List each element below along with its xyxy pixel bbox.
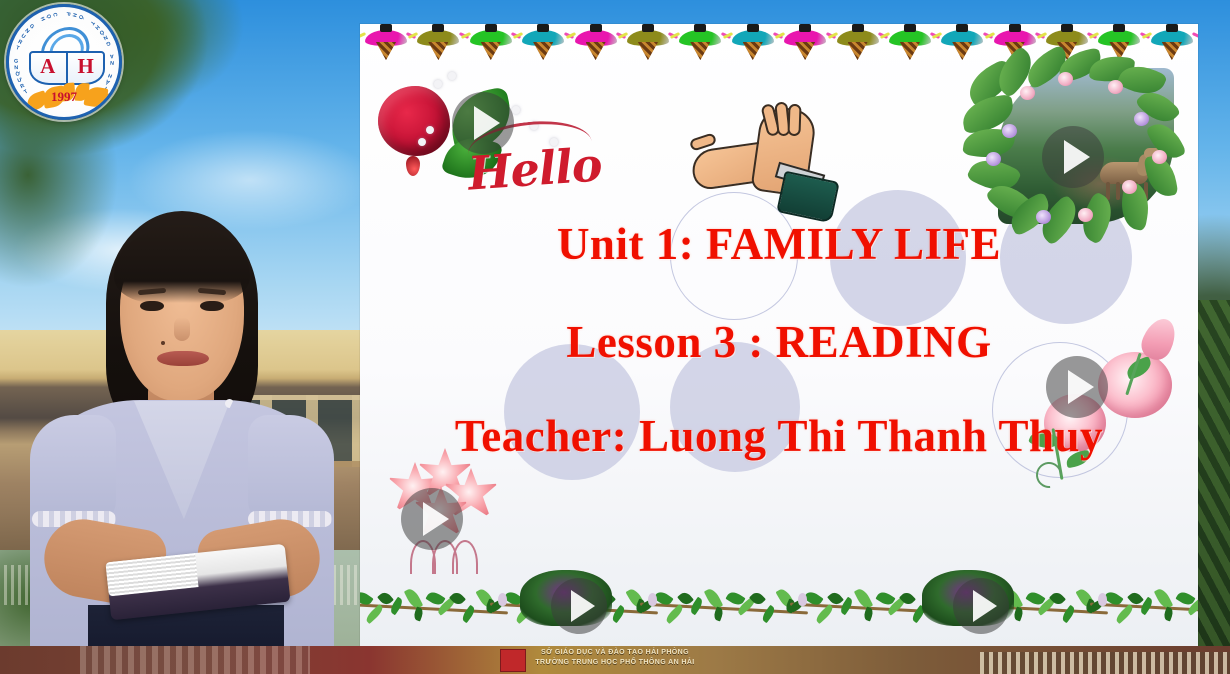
- icecream-topper: [747, 24, 759, 32]
- babys-breath-3: [426, 126, 434, 134]
- teacher-eye-left: [140, 301, 164, 311]
- school-banner-strip: SỞ GIÁO DỤC VÀ ĐÀO TẠO HẢI PHÒNG TRƯỜNG …: [0, 646, 1230, 674]
- icecream-cone: [848, 42, 868, 60]
- wreath-flower-5: [1108, 80, 1123, 94]
- icecream-topper: [1061, 24, 1073, 32]
- video-lecture-stage: TRƯỜNG TRUNG HỌC PHỔ THÔNG AN HẢI A H 19…: [0, 0, 1230, 674]
- logo-ring-char: T: [15, 45, 20, 52]
- icecream-cone-icon: [465, 24, 517, 60]
- play-button-vine-left[interactable]: [551, 578, 607, 634]
- babys-breath-2: [448, 72, 456, 80]
- icecream-topper: [485, 24, 497, 32]
- logo-ring-char: Ờ: [15, 71, 21, 78]
- vine-bud: [1098, 593, 1107, 606]
- icecream-topper: [1009, 24, 1021, 32]
- logo-ring-char: [33, 19, 39, 23]
- icecream-cone-icon: [779, 24, 831, 60]
- wreath-flower-1: [1020, 86, 1035, 100]
- icecream-cone-icon: [936, 24, 988, 60]
- logo-ring-char: G: [14, 58, 19, 64]
- wreath-flower-4: [986, 152, 1001, 166]
- icecream-cone: [481, 42, 501, 60]
- babys-breath-7: [418, 138, 426, 146]
- icecream-topper: [537, 24, 549, 32]
- icecream-cone-icon: [570, 24, 622, 60]
- icecream-cone-icon: [622, 24, 674, 60]
- icecream-cone-icon: [1093, 24, 1145, 60]
- teacher-mole: [161, 341, 165, 345]
- wreath-flower-6: [1134, 112, 1149, 126]
- clapping-hands-clipart: [690, 102, 850, 214]
- icecream-cone-icon: [884, 24, 936, 60]
- red-rose-icon: [378, 86, 450, 156]
- icecream-topper: [432, 24, 444, 32]
- green-sleeve: [776, 171, 840, 224]
- wreath-flower-7: [1122, 180, 1137, 194]
- icecream-topper: [904, 24, 916, 32]
- babys-breath-1: [434, 80, 442, 88]
- teacher-mouth: [157, 351, 209, 366]
- icecream-cone-icon: [412, 24, 464, 60]
- play-button-hello[interactable]: [452, 92, 514, 154]
- play-button-vine-right[interactable]: [953, 578, 1009, 634]
- icecream-spark: [1192, 32, 1198, 39]
- vine-leaf: [610, 605, 627, 623]
- icecream-topper: [694, 24, 706, 32]
- logo-founding-year: 1997: [9, 89, 119, 105]
- icecream-cone: [900, 42, 920, 60]
- icecream-cone: [743, 42, 763, 60]
- play-triangle-icon: [423, 502, 449, 536]
- play-triangle-icon: [1064, 140, 1090, 174]
- icecream-cone: [533, 42, 553, 60]
- icecream-cone: [690, 42, 710, 60]
- icecream-topper: [956, 24, 968, 32]
- slide-title-block: Unit 1: FAMILY LIFE Lesson 3 : READING T…: [360, 220, 1198, 462]
- banner-line-2: TRƯỜNG TRUNG HỌC PHỔ THÔNG AN HẢI: [0, 658, 1230, 668]
- icecream-topper: [799, 24, 811, 32]
- logo-letter-a: A: [40, 54, 55, 79]
- logo-ring-char: G: [28, 23, 35, 30]
- vine-leaf: [760, 605, 777, 623]
- logo-ring-char: [112, 66, 115, 72]
- rose-dewdrop-icon: [406, 156, 420, 176]
- logo-ring-char: [110, 46, 113, 52]
- teacher-sleeve-right: [248, 415, 334, 525]
- logo-ring-char: A: [110, 52, 114, 58]
- icecream-cone-icon: [832, 24, 884, 60]
- icecream-cone: [795, 42, 815, 60]
- play-triangle-icon: [1068, 370, 1094, 404]
- logo-ring-char: N: [14, 65, 18, 71]
- vine-leaf: [1060, 605, 1077, 623]
- slide-title-unit: Unit 1: FAMILY LIFE: [360, 220, 1198, 270]
- wreath-flower-3: [1002, 124, 1017, 138]
- school-logo: TRƯỜNG TRUNG HỌC PHỔ THÔNG AN HẢI A H 19…: [6, 4, 122, 120]
- icecream-cone-icon: [517, 24, 569, 60]
- play-button-roses[interactable]: [1046, 356, 1108, 418]
- vine-bud: [798, 593, 807, 606]
- teacher-eye-right: [200, 301, 224, 311]
- wreath-flower-10: [1152, 150, 1167, 164]
- wreath-flower-2: [1058, 72, 1073, 86]
- teacher-nose: [174, 317, 190, 341]
- logo-ring-char: C: [51, 12, 57, 17]
- teacher-presenter: [22, 205, 342, 674]
- rose-curlicue: [1031, 457, 1068, 494]
- vine-bud: [498, 593, 507, 606]
- icecream-cone: [586, 42, 606, 60]
- icecream-topper: [590, 24, 602, 32]
- logo-letter-h: H: [78, 54, 94, 79]
- icecream-topper: [852, 24, 864, 32]
- vine-leaf: [460, 605, 477, 623]
- icecream-cone: [638, 42, 658, 60]
- play-triangle-icon: [973, 590, 997, 622]
- icecream-cone: [428, 42, 448, 60]
- finger-3: [787, 104, 801, 136]
- icecream-cone-icon: [674, 24, 726, 60]
- icecream-cone-icon: [360, 24, 412, 60]
- logo-ring-char: [58, 12, 64, 14]
- shared-presentation-slide[interactable]: Hello: [360, 24, 1198, 650]
- play-triangle-icon: [571, 590, 595, 622]
- slide-title-teacher: Teacher: Luong Thi Thanh Thuy: [360, 412, 1198, 462]
- icecream-topper: [1166, 24, 1178, 32]
- icecream-topper: [380, 24, 392, 32]
- banner-line-1: SỞ GIÁO DỤC VÀ ĐÀO TẠO HẢI PHÒNG: [0, 648, 1230, 658]
- logo-ring-char: N: [110, 59, 114, 65]
- icecream-cone-icon: [1146, 24, 1198, 60]
- banner-text: SỞ GIÁO DỤC VÀ ĐÀO TẠO HẢI PHÒNG TRƯỜNG …: [0, 648, 1230, 668]
- logo-ring-char: [14, 52, 17, 58]
- logo-monogram: A H: [29, 51, 105, 81]
- icecream-topper: [642, 24, 654, 32]
- play-triangle-icon: [474, 106, 500, 140]
- play-button-nature[interactable]: [1042, 126, 1104, 188]
- icecream-cone-icon: [727, 24, 779, 60]
- icecream-topper: [1113, 24, 1125, 32]
- play-button-lilies[interactable]: [401, 488, 463, 550]
- icecream-cone: [376, 42, 396, 60]
- floral-vine-border: [360, 568, 1198, 632]
- vine-bud: [648, 593, 657, 606]
- babys-breath-4: [512, 106, 520, 114]
- teacher-sleeve-left: [30, 415, 116, 525]
